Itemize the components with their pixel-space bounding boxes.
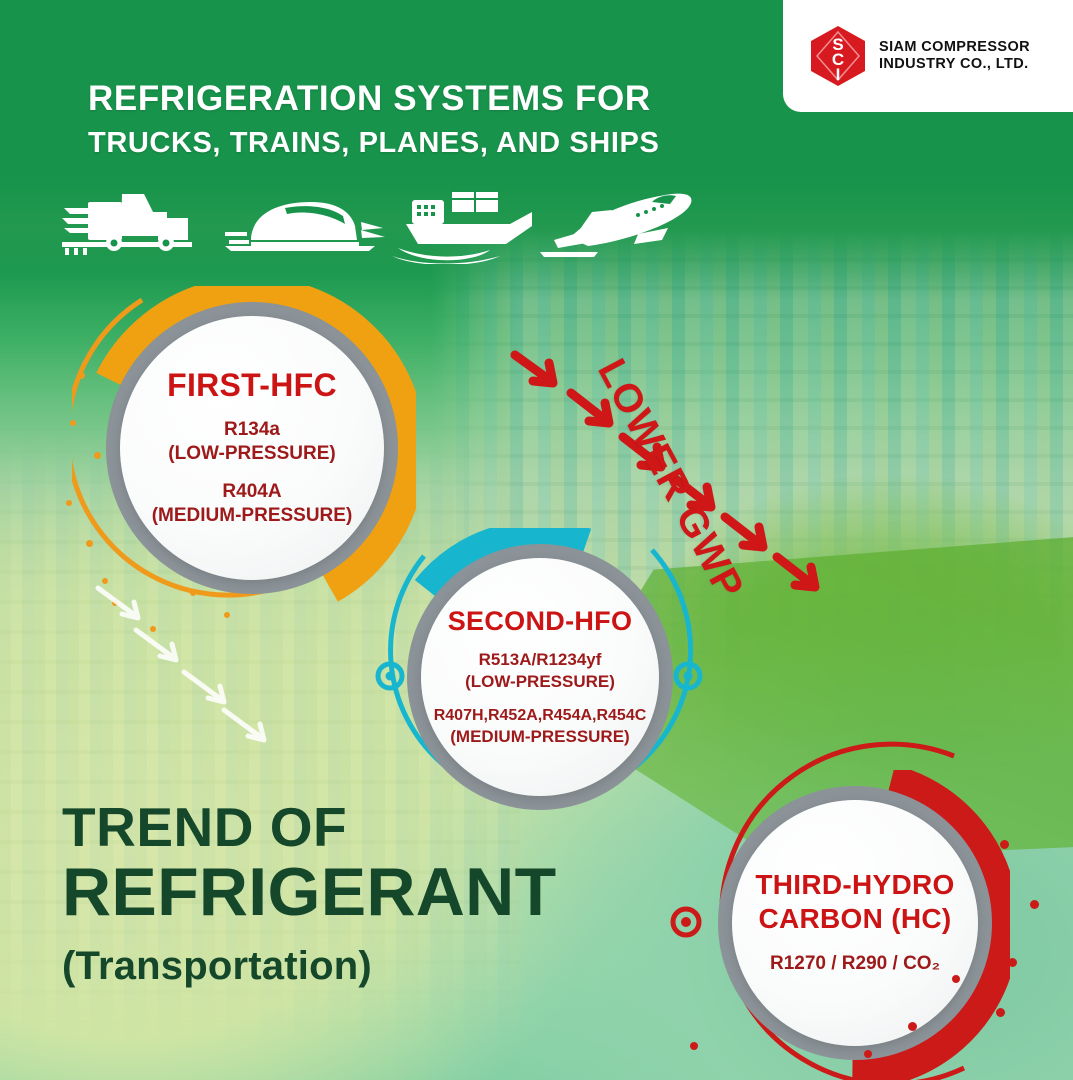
headline-line1: REFRIGERATION SYSTEMS FOR [88, 78, 659, 119]
ship-icon [392, 186, 537, 264]
headline-line2: TRUCKS, TRAINS, PLANES, AND SHIPS [88, 127, 659, 160]
stage-item-code: R513A/R1234yf [479, 649, 602, 670]
transport-icons-row [62, 182, 702, 266]
stage-item-pressure: (MEDIUM-PRESSURE) [152, 504, 353, 528]
stage-item-code: R407H,R452A,R454A,R454C [434, 706, 647, 726]
stage-item-pressure: (MEDIUM-PRESSURE) [450, 726, 629, 747]
stage-item-pressure: (LOW-PRESSURE) [465, 671, 615, 692]
stage-card-first-hfc: FIRST-HFC R134a (LOW-PRESSURE) R404A (ME… [120, 316, 384, 580]
stage-node-second-hfo[interactable]: SECOND-HFO R513A/R1234yf (LOW-PRESSURE) … [390, 528, 690, 828]
sci-hexagon-logo-icon: S C I [809, 25, 867, 87]
brand-name-line2: INDUSTRY CO., LTD. [879, 56, 1030, 73]
stage-item-code: R404A [222, 480, 281, 504]
svg-text:I: I [836, 65, 841, 84]
page-title: TREND OF REFRIGERANT (Transportation) [62, 800, 556, 989]
stage-title: FIRST-HFC [167, 369, 337, 403]
brand-logo-card: S C I SIAM COMPRESSOR INDUSTRY CO., LTD. [783, 0, 1073, 112]
stage-item-pressure: (LOW-PRESSURE) [168, 442, 335, 466]
headline: REFRIGERATION SYSTEMS FOR TRUCKS, TRAINS… [88, 78, 659, 160]
truck-icon [62, 188, 207, 260]
train-icon [225, 198, 385, 256]
page-title-line2: REFRIGERANT [62, 857, 556, 928]
stage-item-code: R134a [224, 418, 280, 442]
plane-icon [540, 190, 700, 260]
brand-name: SIAM COMPRESSOR INDUSTRY CO., LTD. [879, 39, 1030, 73]
infographic-poster: S C I SIAM COMPRESSOR INDUSTRY CO., LTD.… [0, 0, 1073, 1080]
stage-title: SECOND-HFO [448, 607, 633, 636]
stage-item-code: R1270 / R290 / CO₂ [770, 952, 940, 976]
page-title-line1: TREND OF [62, 800, 556, 855]
brand-name-line1: SIAM COMPRESSOR [879, 39, 1030, 56]
page-title-line3: (Transportation) [62, 944, 556, 989]
stage-title-line1: THIRD-HYDRO [755, 870, 954, 900]
stage-title-line2: CARBON (HC) [758, 904, 951, 934]
stage-card-third-hydrocarbon: THIRD-HYDRO CARBON (HC) R1270 / R290 / C… [732, 800, 978, 1046]
stage-card-second-hfo: SECOND-HFO R513A/R1234yf (LOW-PRESSURE) … [421, 558, 659, 796]
